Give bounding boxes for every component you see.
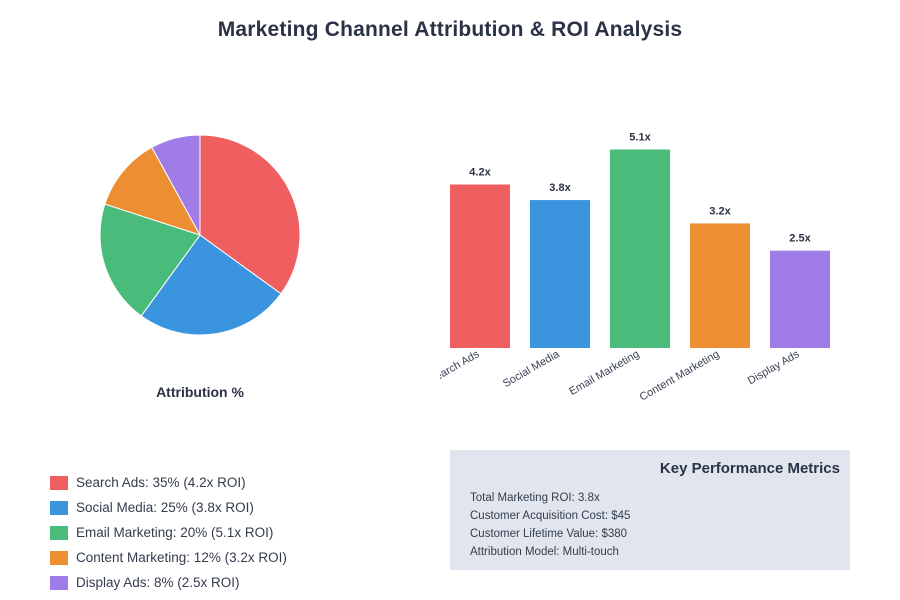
legend-color-swatch <box>50 501 68 515</box>
legend-item-label: Email Marketing: 20% (5.1x ROI) <box>76 525 273 540</box>
page-title: Marketing Channel Attribution & ROI Anal… <box>0 18 900 42</box>
legend-item: Social Media: 25% (3.8x ROI) <box>50 495 410 520</box>
legend-item: Display Ads: 8% (2.5x ROI) <box>50 570 410 595</box>
legend-item: Search Ads: 35% (4.2x ROI) <box>50 470 410 495</box>
kpi-metric-item: Attribution Model: Multi-touch <box>470 543 630 561</box>
kpi-panel: Key Performance Metrics Total Marketing … <box>450 450 850 570</box>
bar-category-label: Search Ads <box>440 348 482 387</box>
bar-chart-panel: 4.2xSearch Ads3.8xSocial Media5.1xEmail … <box>440 120 860 410</box>
bar <box>450 185 510 349</box>
bar-category-label: Display Ads <box>746 348 802 387</box>
legend-item: Email Marketing: 20% (5.1x ROI) <box>50 520 410 545</box>
kpi-metric-item: Total Marketing ROI: 3.8x <box>470 489 630 507</box>
bar-value-label: 2.5x <box>789 233 811 245</box>
bar-value-label: 4.2x <box>469 167 491 179</box>
legend-color-swatch <box>50 526 68 540</box>
kpi-metric-item: Customer Lifetime Value: $380 <box>470 525 630 543</box>
kpi-metric-item: Customer Acquisition Cost: $45 <box>470 507 630 525</box>
legend-item-label: Content Marketing: 12% (3.2x ROI) <box>76 550 287 565</box>
bar-value-label: 3.8x <box>549 182 571 194</box>
kpi-panel-title: Key Performance Metrics <box>660 460 840 477</box>
bar-value-label: 5.1x <box>629 131 651 143</box>
legend-color-swatch <box>50 476 68 490</box>
bar-category-label: Social Media <box>501 348 562 390</box>
kpi-list: Total Marketing ROI: 3.8xCustomer Acquis… <box>470 489 630 561</box>
bar <box>690 223 750 348</box>
bar <box>770 251 830 348</box>
legend-color-swatch <box>50 576 68 590</box>
bar-category-label: Content Marketing <box>638 348 722 403</box>
legend-item-label: Display Ads: 8% (2.5x ROI) <box>76 575 240 590</box>
bar <box>530 200 590 348</box>
bar-value-label: 3.2x <box>709 205 731 217</box>
legend-item-label: Search Ads: 35% (4.2x ROI) <box>76 475 246 490</box>
attribution-pie-chart <box>60 130 340 370</box>
legend-item-label: Social Media: 25% (3.8x ROI) <box>76 500 254 515</box>
pie-chart-title: Attribution % <box>60 384 340 400</box>
bar <box>610 149 670 348</box>
bar-category-label: Email Marketing <box>567 348 641 398</box>
legend-item: Content Marketing: 12% (3.2x ROI) <box>50 545 410 570</box>
roi-bar-chart: 4.2xSearch Ads3.8xSocial Media5.1xEmail … <box>440 120 860 500</box>
legend-color-swatch <box>50 551 68 565</box>
chart-legend: Search Ads: 35% (4.2x ROI)Social Media: … <box>50 470 410 595</box>
pie-chart-panel: Attribution % <box>60 130 340 420</box>
